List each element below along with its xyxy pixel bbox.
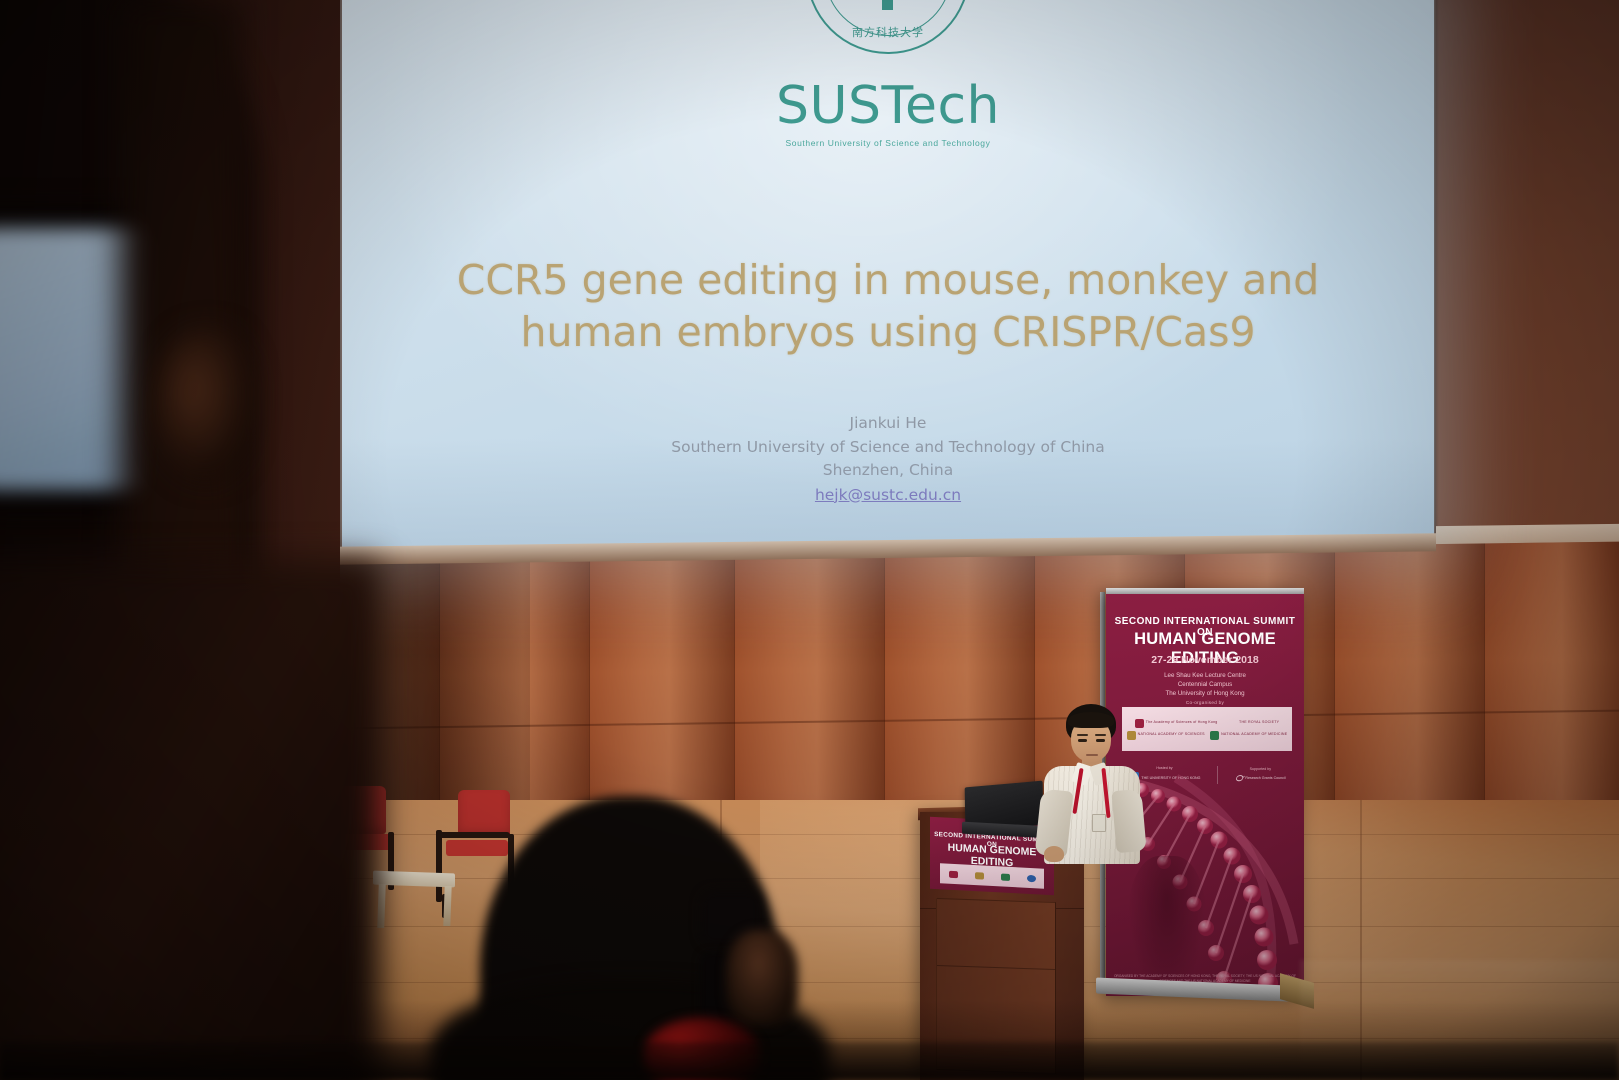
- foreground-left-lower-mass: [0, 560, 380, 1080]
- banner-venue-line-3: The University of Hong Kong: [1106, 690, 1304, 699]
- nam-label: NATIONAL ACADEMY OF MEDICINE: [1221, 733, 1287, 737]
- timber-panel-wall: [300, 542, 1619, 820]
- nas-icon: [975, 872, 984, 879]
- speaker-hand: [1044, 846, 1064, 862]
- podium-sign-logo-strip: [940, 863, 1044, 888]
- slide-title: CCR5 gene editing in mouse, monkey and h…: [438, 254, 1338, 359]
- royal-society-label: THE ROYAL SOCIETY: [1239, 721, 1279, 725]
- slide-affiliation: Southern University of Science and Techn…: [508, 436, 1268, 460]
- conference-badge: [1092, 814, 1106, 832]
- banner-top-rail: [1106, 588, 1304, 594]
- right-wall: [1432, 0, 1619, 575]
- projection-screen: 南方科技大学 SUSTech Southern University of Sc…: [342, 0, 1434, 548]
- photographer-hand: [726, 930, 798, 1026]
- sustech-logo: 南方科技大学 SUSTech Southern University of Sc…: [342, 0, 1434, 148]
- nam-icon: [1210, 731, 1219, 740]
- banner-venue-line-2: Centennial Campus: [1106, 681, 1304, 690]
- nam-logo: NATIONAL ACADEMY OF MEDICINE: [1210, 731, 1287, 740]
- academy-hk-icon: [949, 870, 958, 877]
- torch-seal-icon: 南方科技大学: [806, 0, 970, 54]
- foreground-left-hand: [156, 330, 252, 480]
- torch-icon: [861, 0, 915, 20]
- banner-dates: 27-29 November 2018: [1106, 654, 1304, 666]
- sustech-wordmark-subtitle: Southern University of Science and Techn…: [786, 138, 991, 148]
- seal-chinese-text: 南方科技大学: [808, 24, 968, 40]
- auditorium-scene: 南方科技大学 SUSTech Southern University of Sc…: [0, 0, 1619, 1080]
- speaker-right-arm: [1111, 789, 1146, 853]
- banner-venue: Lee Shau Kee Lecture Centre Centennial C…: [1106, 672, 1304, 699]
- slide-email-link[interactable]: hejk@sustc.edu.cn: [815, 484, 961, 508]
- slide-author-block: Jiankui He Southern University of Scienc…: [508, 412, 1268, 507]
- slide-location: Shenzhen, China: [508, 459, 1268, 483]
- slide-title-line-2: human embryos using CRISPR/Cas9: [438, 306, 1338, 358]
- foreground-left-arm: [120, 0, 240, 620]
- presentation-slide: 南方科技大学 SUSTech Southern University of Sc…: [342, 0, 1434, 548]
- banner-supporter-label: Supported by: [1235, 767, 1286, 771]
- academy-hk-label: The Academy of Sciences of Hong Kong: [1146, 721, 1218, 725]
- sustech-wordmark: SUSTech: [776, 76, 1000, 136]
- nam-icon: [1001, 873, 1010, 880]
- foreground-bottom-shadow: [0, 1042, 1619, 1080]
- slide-title-line-1: CCR5 gene editing in mouse, monkey and: [438, 254, 1338, 306]
- royal-society-icon: [1027, 874, 1036, 881]
- side-table-leg: [443, 886, 451, 926]
- banner-venue-line-1: Lee Shau Kee Lecture Centre: [1106, 672, 1304, 681]
- speaker-jiankui-he: [1030, 704, 1152, 864]
- slide-author: Jiankui He: [508, 412, 1268, 436]
- royal-society-logo: THE ROYAL SOCIETY: [1239, 721, 1279, 725]
